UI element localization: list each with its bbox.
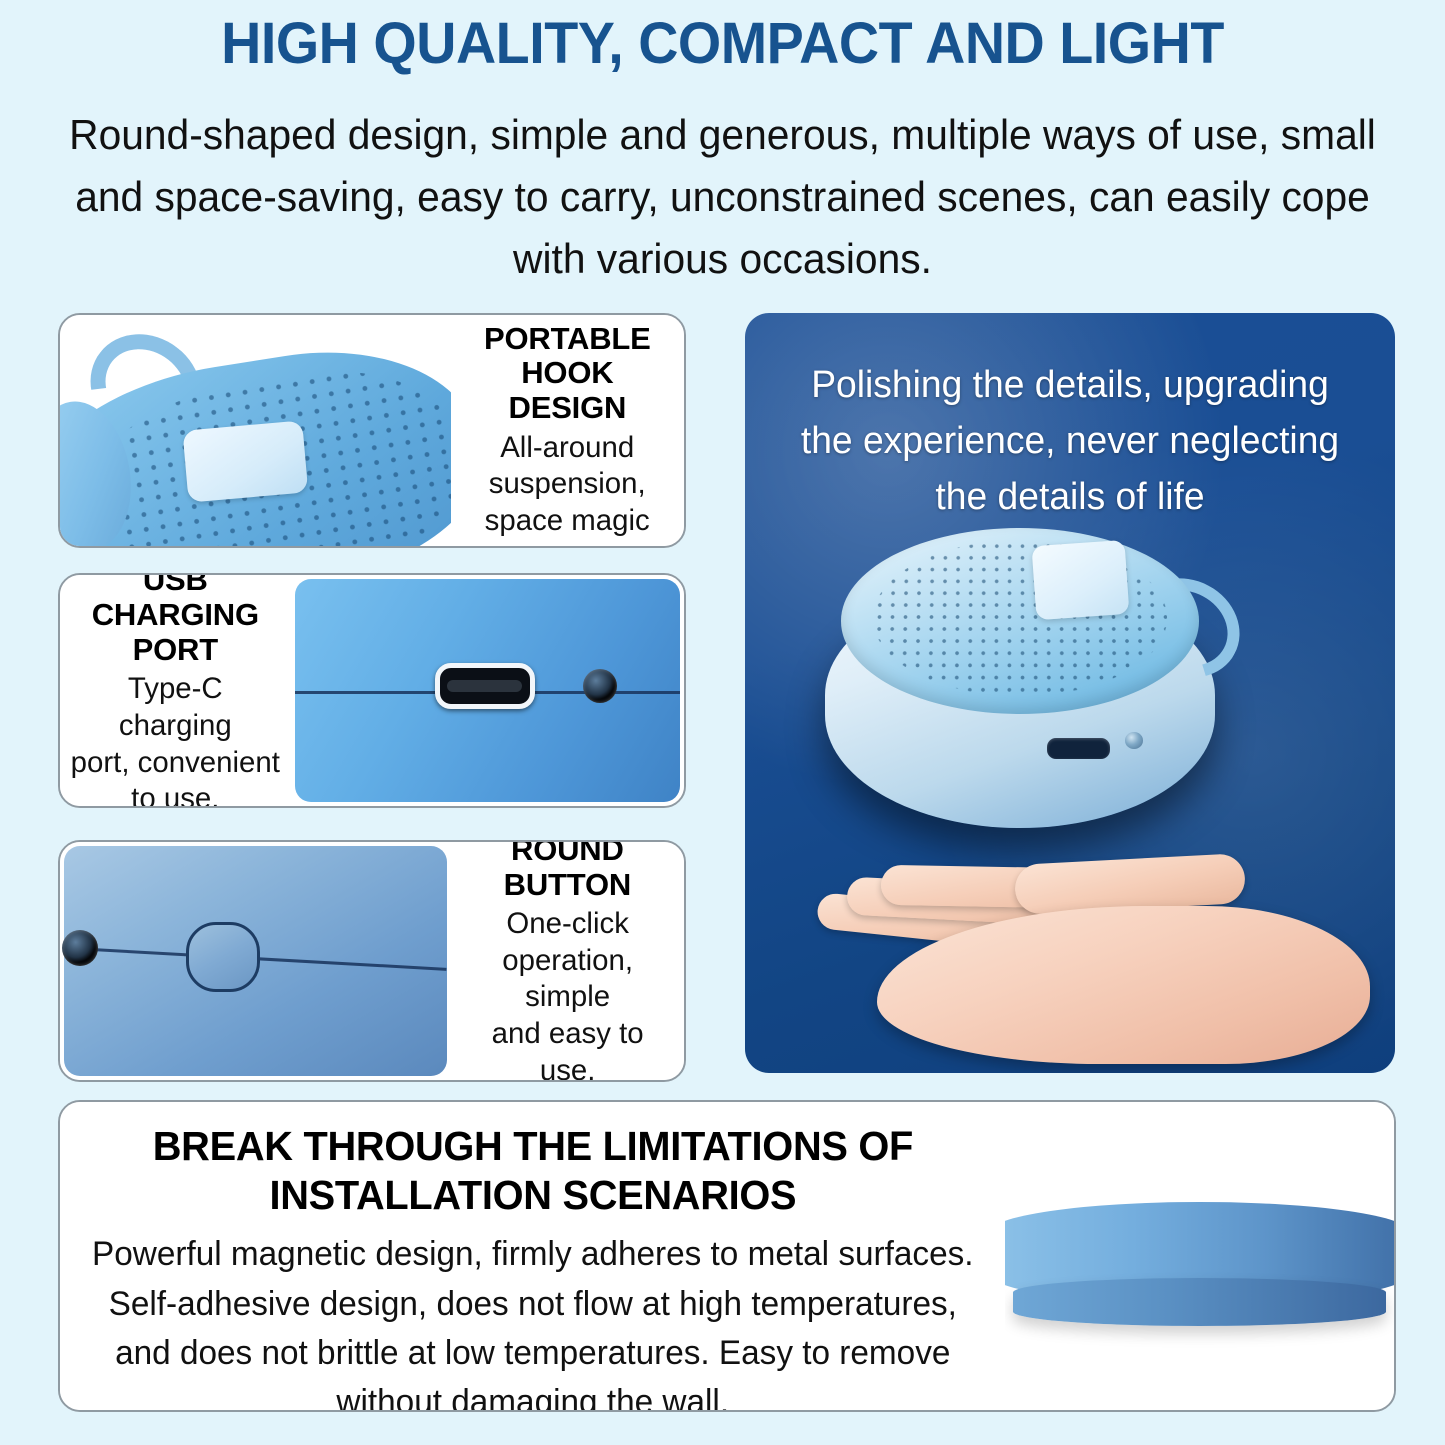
- speaker-label-patch: [1032, 540, 1130, 621]
- feature-card-round-button: ROUND BUTTON One-click operation, simple…: [58, 840, 686, 1082]
- speaker-hook-illustration: [60, 315, 451, 546]
- feature-body-line1: One-click: [506, 907, 629, 940]
- feature-body-line3: space magic: [485, 504, 650, 537]
- type-c-port-icon: [1047, 738, 1109, 759]
- feature-body-line1: All-around: [500, 431, 634, 464]
- feature-text-round-button: ROUND BUTTON One-click operation, simple…: [451, 842, 684, 1080]
- installation-body-line1: Powerful magnetic design, firmly adheres…: [92, 1235, 974, 1273]
- feature-card-usb-charging-port: USB CHARGING PORT Type-C charging port, …: [58, 573, 686, 808]
- feature-title: ROUND BUTTON: [504, 840, 631, 902]
- installation-body-line3: and does not brittle at low temperatures…: [115, 1334, 950, 1372]
- type-c-port-icon: [435, 663, 535, 709]
- speaker-label-patch: [182, 420, 308, 502]
- installation-scenarios-card: BREAK THROUGH THE LIMITATIONS OF INSTALL…: [58, 1100, 1396, 1412]
- feature-title: PORTABLE HOOK DESIGN: [459, 322, 676, 426]
- installation-title: BREAK THROUGH THE LIMITATIONS OF INSTALL…: [152, 1122, 912, 1220]
- installation-body-line4: without damaging the wall.: [336, 1383, 729, 1412]
- feature-title-line2: HOOK DESIGN: [509, 355, 627, 425]
- feature-title: USB CHARGING PORT: [68, 573, 283, 667]
- feature-body: One-click operation, simple and easy to …: [461, 906, 674, 1082]
- speaker-magnetic-base: [1013, 1278, 1386, 1326]
- feature-text-portable-hook: PORTABLE HOOK DESIGN All-around suspensi…: [451, 315, 684, 546]
- feature-body: Type-C charging port, convenient to use.: [70, 671, 280, 808]
- feature-image-usb-port: [291, 575, 684, 806]
- feature-body-line3: and easy to use.: [491, 1017, 643, 1082]
- feature-title-line2: PORT: [133, 632, 218, 667]
- installation-text-pane: BREAK THROUGH THE LIMITATIONS OF INSTALL…: [60, 1102, 1005, 1410]
- feature-body-line2: operation, simple: [502, 944, 633, 1014]
- page-subtitle: Round-shaped design, simple and generous…: [57, 104, 1389, 290]
- installation-image-pane: [1005, 1102, 1394, 1410]
- feature-body-line3: to use.: [131, 782, 219, 808]
- hero-open-hand: [763, 853, 1395, 1073]
- housing-seam-line: [74, 947, 446, 971]
- power-button-icon: [186, 922, 260, 992]
- feature-image-round-button: [60, 842, 451, 1080]
- feature-body-line1: Type-C charging: [119, 672, 232, 742]
- feature-title-line1: ROUND: [511, 840, 624, 867]
- installation-title-line2: INSTALLATION SCENARIOS: [269, 1172, 796, 1218]
- hero-caption: Polishing the details, upgrading the exp…: [775, 357, 1365, 526]
- hero-speaker: [825, 528, 1215, 828]
- page-title: HIGH QUALITY, COMPACT AND LIGHT: [29, 14, 1416, 75]
- feature-title-line1: PORTABLE: [484, 321, 651, 356]
- feature-card-portable-hook-design: PORTABLE HOOK DESIGN All-around suspensi…: [58, 313, 686, 548]
- feature-title-line1: USB CHARGING: [92, 573, 259, 632]
- microphone-hole-icon: [1125, 732, 1143, 749]
- infographic-page: HIGH QUALITY, COMPACT AND LIGHT Round-sh…: [0, 0, 1445, 1445]
- hero-caption-line2: the experience, never neglecting: [801, 420, 1339, 462]
- feature-title-line2: BUTTON: [504, 867, 631, 902]
- microphone-hole-icon: [62, 930, 98, 966]
- feature-body: All-around suspension, space magic: [485, 430, 650, 540]
- installation-body: Powerful magnetic design, firmly adheres…: [92, 1230, 974, 1412]
- installation-title-line1: BREAK THROUGH THE LIMITATIONS OF: [152, 1123, 912, 1169]
- speaker-top-grille-plate: [841, 528, 1200, 714]
- installation-body-line2: Self-adhesive design, does not flow at h…: [108, 1285, 956, 1323]
- hero-panel: Polishing the details, upgrading the exp…: [745, 313, 1395, 1073]
- feature-text-usb-port: USB CHARGING PORT Type-C charging port, …: [60, 575, 291, 806]
- speaker-side-surface: [64, 846, 447, 1076]
- hero-caption-line3: the details of life: [935, 476, 1204, 518]
- feature-body-line2: port, convenient: [71, 746, 280, 779]
- microphone-hole-icon: [583, 669, 617, 703]
- feature-body-line2: suspension,: [489, 467, 646, 500]
- feature-image-portable-hook: [60, 315, 451, 546]
- speaker-side-surface: [295, 579, 680, 802]
- hero-caption-line1: Polishing the details, upgrading: [811, 364, 1329, 406]
